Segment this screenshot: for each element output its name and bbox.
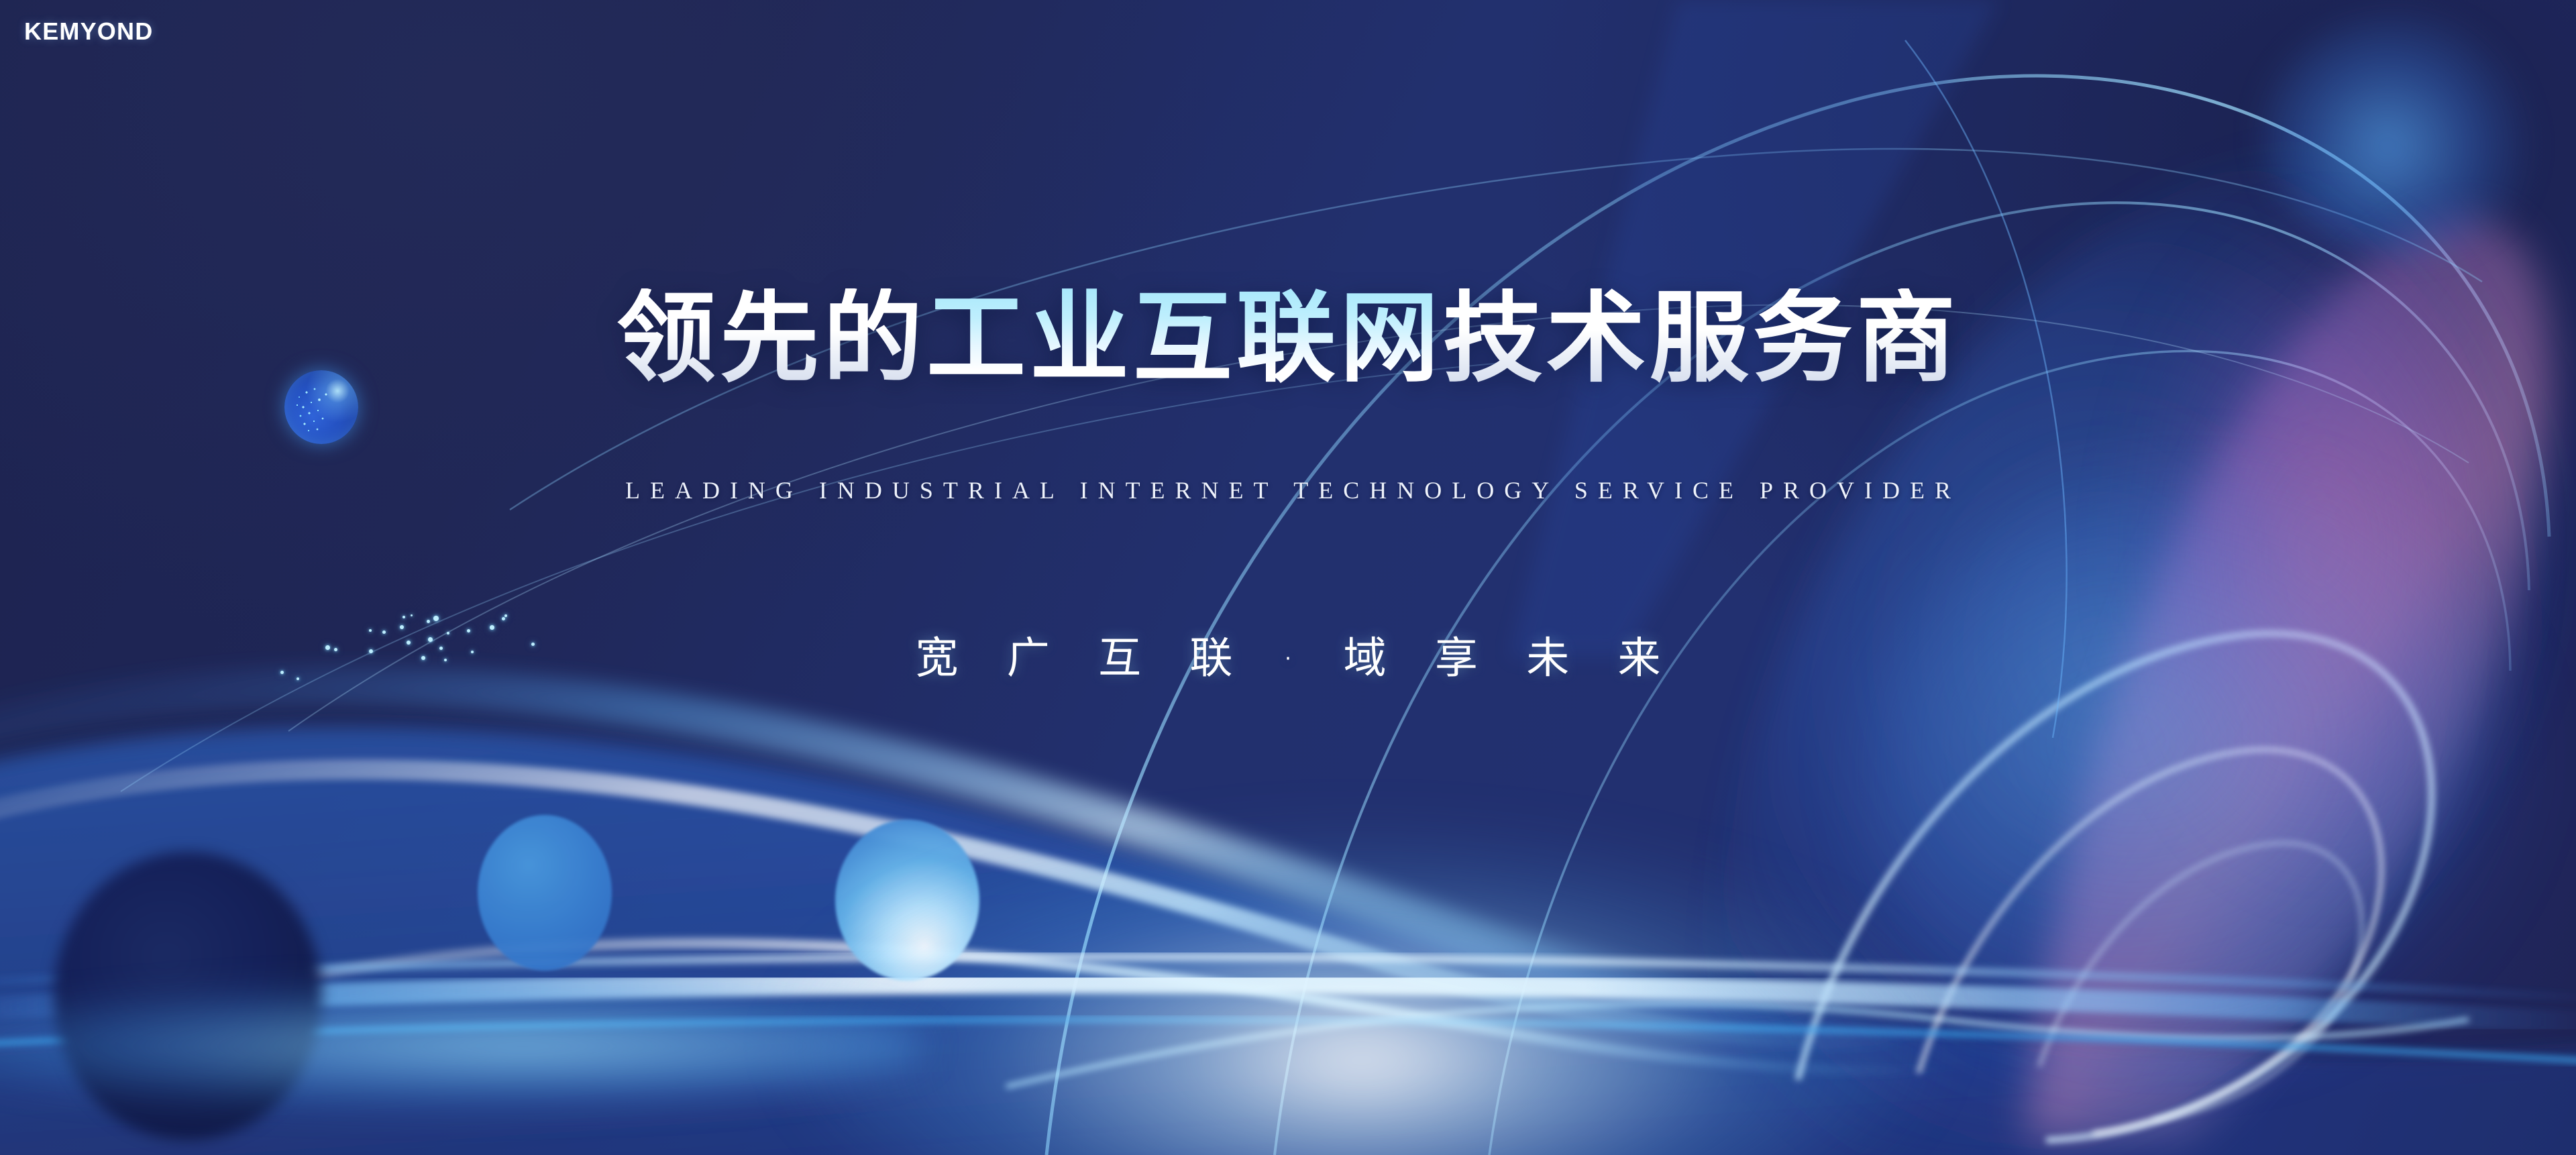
banner-content: KEMYOND 领先的工业互联网技术服务商 LEADING INDUSTRIAL… (0, 0, 2576, 1155)
promo-banner: KEMYOND 领先的工业互联网技术服务商 LEADING INDUSTRIAL… (0, 0, 2576, 1155)
headline-segment-1: 领先的 (616, 288, 926, 388)
headline-subtitle: LEADING INDUSTRIAL INTERNET TECHNOLOGY S… (0, 476, 2576, 504)
headline-segment-3: 技术服务商 (1443, 288, 1960, 388)
brand-tagline: 宽 广 互 联 · 域 享 未 来 (0, 624, 2576, 685)
page-title: 领先的工业互联网技术服务商 (0, 288, 2576, 388)
headline-segment-2: 工业互联网 (926, 288, 1443, 388)
brand-logo[interactable]: KEMYOND (24, 17, 153, 46)
